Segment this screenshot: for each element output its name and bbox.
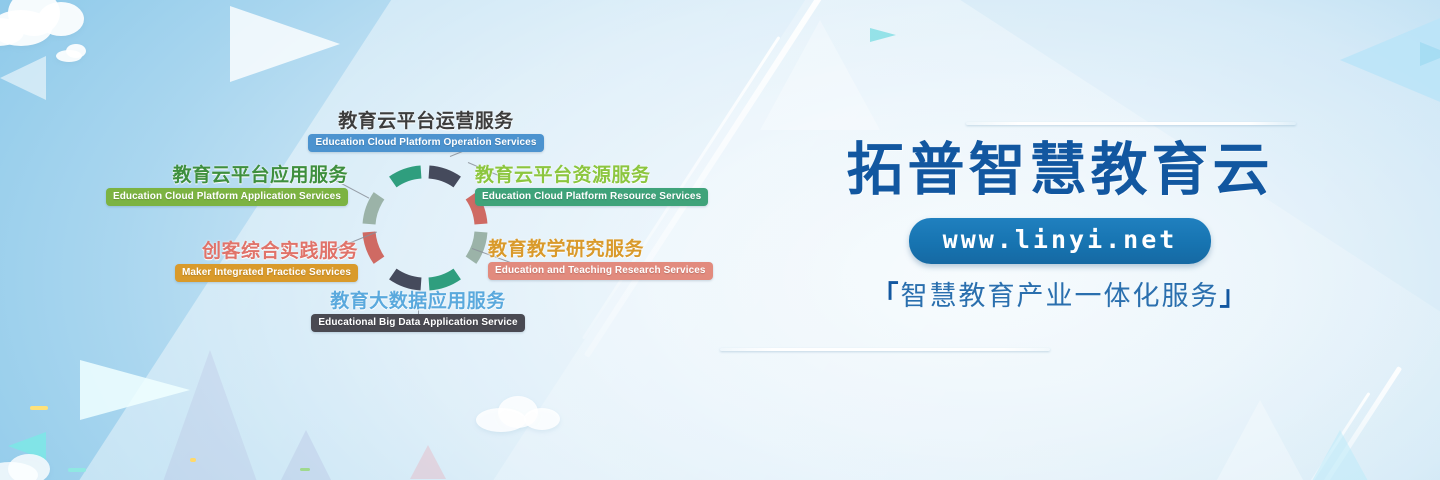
donut-segment-bottom-left — [393, 274, 421, 284]
node-maker-cn: 创客综合实践服务 — [38, 240, 358, 262]
node-research-en: Education and Teaching Research Services — [488, 262, 713, 280]
deco-triangle-2 — [1340, 14, 1440, 106]
deco-triangle-4 — [80, 360, 190, 420]
cloud-top-left — [0, 0, 100, 46]
tagline-close-bracket: 」 — [1220, 281, 1249, 312]
node-operation-cn: 教育云平台运营服务 — [276, 110, 576, 132]
node-resource[interactable]: 教育云平台资源服务 Education Cloud Platform Resou… — [475, 164, 795, 206]
node-maker[interactable]: 创客综合实践服务 Maker Integrated Practice Servi… — [38, 240, 358, 282]
donut-segment-top-left — [393, 172, 421, 182]
deco-triangle-3 — [230, 6, 340, 82]
donut-segment-right-lower — [471, 232, 481, 260]
node-application-cn: 教育云平台应用服务 — [28, 164, 348, 186]
node-application[interactable]: 教育云平台应用服务 Education Cloud Platform Appli… — [28, 164, 348, 206]
deco-triangle-9 — [0, 56, 46, 100]
node-bigdata-cn: 教育大数据应用服务 — [268, 290, 568, 312]
node-resource-en: Education Cloud Platform Resource Servic… — [475, 188, 708, 206]
brand-block: 拓普智慧教育云 www.linyi.net 「智慧教育产业一体化服务」 — [760, 100, 1360, 380]
light-streak-3 — [1316, 366, 1402, 480]
website-url-button[interactable]: www.linyi.net — [909, 218, 1212, 264]
deco-triangle-12 — [1420, 42, 1440, 66]
url-button-wrap: www.linyi.net — [760, 202, 1360, 264]
node-operation-en: Education Cloud Platform Operation Servi… — [308, 134, 543, 152]
deco-triangle-13 — [410, 445, 446, 479]
cloud-bottom-left — [0, 452, 72, 480]
tagline-open-bracket: 「 — [872, 281, 901, 312]
node-application-en: Education Cloud Platform Application Ser… — [106, 188, 348, 206]
divider-top — [966, 122, 1296, 125]
cloud-small-left — [56, 44, 90, 60]
promo-banner: 教育云平台运营服务 Education Cloud Platform Opera… — [0, 0, 1440, 480]
donut-segment-left-lower — [369, 232, 379, 260]
donut-segment-bottom-right — [429, 274, 457, 284]
divider-bottom — [720, 348, 1050, 351]
tagline-text: 智慧教育产业一体化服务 — [901, 281, 1220, 312]
deco-triangle-6 — [246, 430, 366, 480]
brand-title: 拓普智慧教育云 — [760, 138, 1360, 202]
donut-segment-left-upper — [369, 196, 379, 224]
deco-dash-green-1 — [300, 468, 310, 471]
service-wheel-diagram: 教育云平台运营服务 Education Cloud Platform Opera… — [150, 100, 710, 360]
brand-tagline: 「智慧教育产业一体化服务」 — [760, 280, 1360, 314]
node-bigdata[interactable]: 教育大数据应用服务 Educational Big Data Applicati… — [268, 290, 568, 332]
deco-triangle-7 — [1190, 400, 1330, 480]
cloud-bottom-center — [476, 396, 562, 430]
deco-triangle-5 — [160, 350, 260, 480]
node-resource-cn: 教育云平台资源服务 — [475, 164, 795, 186]
donut-ring — [355, 158, 495, 298]
deco-triangle-8 — [1285, 430, 1395, 480]
node-operation[interactable]: 教育云平台运营服务 Education Cloud Platform Opera… — [276, 110, 576, 152]
deco-dash-yellow-1 — [30, 406, 48, 410]
node-bigdata-en: Educational Big Data Application Service — [311, 314, 524, 332]
deco-dash-yellow-2 — [190, 458, 196, 462]
deco-triangle-11 — [870, 28, 896, 42]
light-streak-4 — [1303, 392, 1371, 480]
donut-segment-top-right — [429, 172, 457, 182]
node-maker-en: Maker Integrated Practice Services — [175, 264, 358, 282]
